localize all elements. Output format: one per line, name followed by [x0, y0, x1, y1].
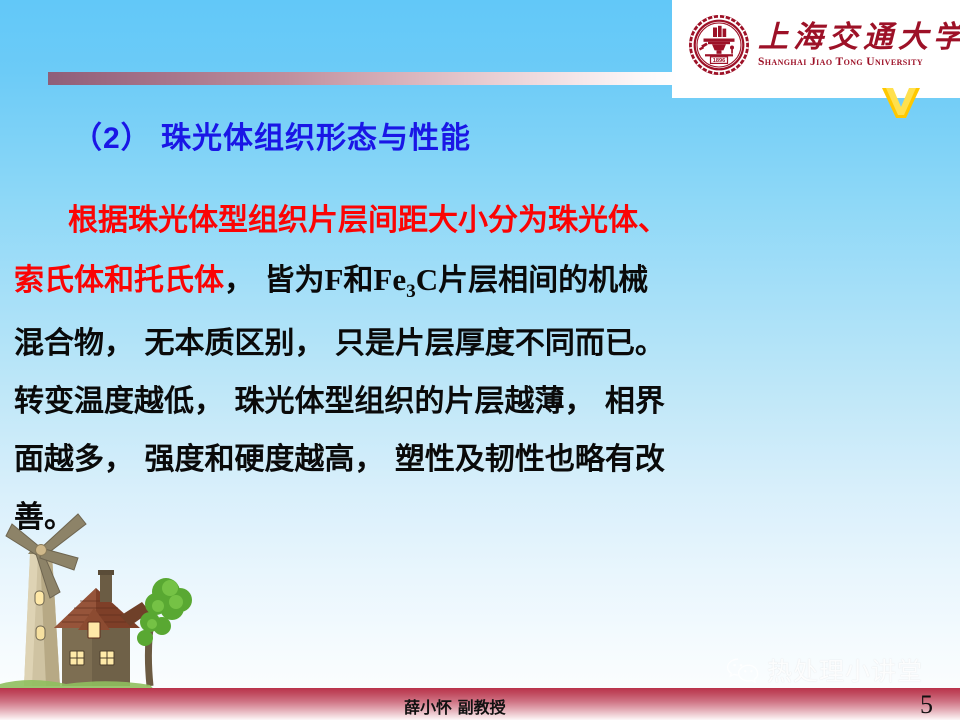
formula-cementite-tail: C	[416, 262, 438, 297]
header-divider-bar	[48, 72, 678, 85]
formula-cementite: Fe3C	[373, 262, 438, 297]
body-line-4: 转变温度越低， 珠光体型组织的片层越薄， 相界	[14, 387, 940, 417]
body-line-2-tail: 片层相间的机械	[438, 263, 648, 298]
presentation-slide: 1896 上海交通大学 Shanghai Jiao Tong Universit…	[0, 0, 960, 720]
logo-chinese-name: 上海交通大学	[758, 22, 960, 54]
page-title: （2） 珠光体组织形态与性能	[72, 113, 471, 157]
slide-body-text: 根据珠光体型组织片层间距大小分为珠光体、 索氏体和托氏体， 皆为F和Fe3C片层…	[10, 206, 940, 533]
wechat-watermark: 热处理小讲堂	[726, 652, 923, 688]
yellow-chevron-mark	[880, 88, 922, 118]
body-line-5: 面越多， 强度和硬度越高， 塑性及韧性也略有改	[14, 445, 940, 475]
formula-cementite-subscript: 3	[406, 281, 416, 302]
watermark-text: 热处理小讲堂	[767, 652, 923, 688]
body-line-2-mid: ， 皆为	[224, 263, 324, 298]
body-line-1: 根据珠光体型组织片层间距大小分为珠光体、	[68, 206, 940, 236]
body-line-3: 混合物， 无本质区别， 只是片层厚度不同而已。	[14, 329, 940, 359]
formula-cementite-base: Fe	[373, 262, 406, 297]
sjtu-emblem-icon: 1896	[688, 14, 750, 76]
logo-wordmark: 上海交通大学 Shanghai Jiao Tong University	[758, 22, 960, 68]
footer-author: 薛小怀 副教授	[404, 694, 506, 718]
body-line-1-text: 根据珠光体型组织片层间距大小分为珠光体、	[68, 203, 668, 238]
page-number: 5	[920, 690, 933, 720]
svg-text:1896: 1896	[713, 58, 725, 64]
windmill-cottage-illustration	[0, 496, 212, 696]
body-line-2-highlight: 索氏体和托氏体	[14, 263, 224, 298]
body-line-2: 索氏体和托氏体， 皆为F和Fe3C片层相间的机械	[14, 264, 940, 301]
formula-ferrite: F	[324, 262, 343, 297]
body-line-2-conjunction: 和	[343, 263, 373, 298]
logo-inner: 1896 上海交通大学 Shanghai Jiao Tong Universit…	[688, 14, 960, 76]
logo-english-name: Shanghai Jiao Tong University	[758, 56, 923, 68]
university-logo: 1896 上海交通大学 Shanghai Jiao Tong Universit…	[672, 0, 960, 98]
wechat-icon	[726, 657, 760, 684]
